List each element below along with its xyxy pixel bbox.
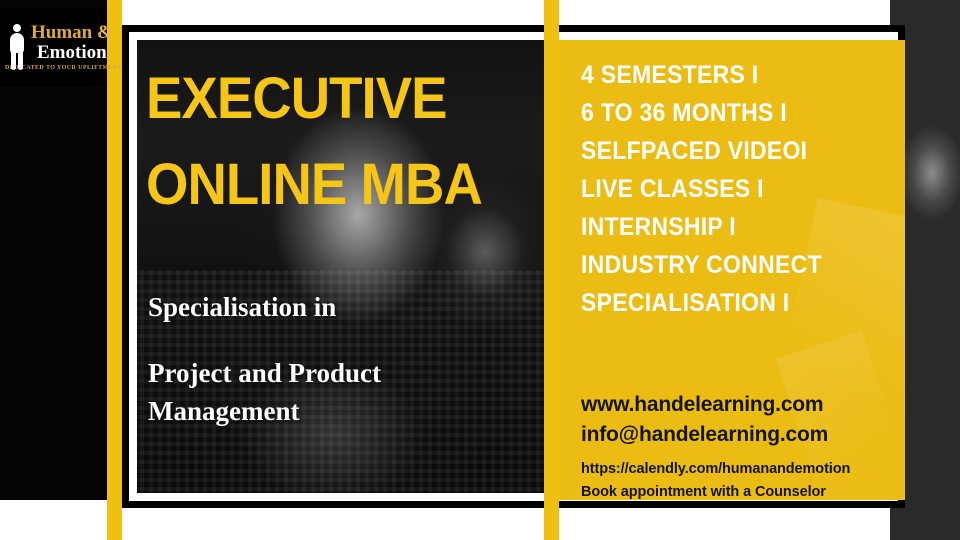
brand-ampersand: & xyxy=(97,22,113,43)
website-link[interactable]: www.handelearning.com xyxy=(581,390,905,420)
list-item: INTERNSHIP I xyxy=(581,208,875,246)
brand-line-1: Human & xyxy=(31,23,122,42)
accent-stripe-middle xyxy=(544,0,559,540)
contact-block: www.handelearning.com info@handelearning… xyxy=(581,390,905,500)
specialisation-gap xyxy=(148,326,548,354)
booking-caption: Book appointment with a Counselor xyxy=(581,481,905,500)
list-item: 4 SEMESTERS I xyxy=(581,56,875,94)
list-item: LIVE CLASSES I xyxy=(581,170,875,208)
brand-logo[interactable]: Human & Emotion DEDICATED TO YOUR UPLIFT… xyxy=(0,8,107,86)
specialisation-value-line-2: Management xyxy=(148,392,548,430)
list-item: SPECIALISATION I xyxy=(581,284,875,322)
person-silhouette-icon xyxy=(7,24,27,70)
feature-list: 4 SEMESTERS I 6 TO 36 MONTHS I SELFPACED… xyxy=(581,56,901,322)
silhouette-leg-right xyxy=(18,51,23,70)
accent-stripe-left xyxy=(107,0,122,540)
features-panel: 4 SEMESTERS I 6 TO 36 MONTHS I SELFPACED… xyxy=(559,40,905,500)
brand-line-2: Emotion xyxy=(37,43,122,62)
contact-spacer xyxy=(581,450,905,458)
brand-wordmark: Human & Emotion DEDICATED TO YOUR UPLIFT… xyxy=(31,23,122,71)
email-link[interactable]: info@handelearning.com xyxy=(581,420,905,450)
specialisation-label: Specialisation in xyxy=(148,292,336,322)
page-title: EXECUTIVE ONLINE MBA xyxy=(146,56,522,228)
specialisation-value-line-1: Project and Product xyxy=(148,358,381,388)
poster-canvas: EXECUTIVE ONLINE MBA Specialisation in P… xyxy=(0,0,960,540)
headline-line-1: EXECUTIVE xyxy=(146,66,447,131)
brand-name-human: Human xyxy=(31,22,92,43)
specialisation-block: Specialisation in Project and Product Ma… xyxy=(148,288,548,430)
list-item: 6 TO 36 MONTHS I xyxy=(581,94,875,132)
silhouette-head xyxy=(13,24,21,32)
list-item: SELFPACED VIDEOI xyxy=(581,132,875,170)
list-item: INDUSTRY CONNECT xyxy=(581,246,875,284)
headline-line-2: ONLINE MBA xyxy=(146,142,522,228)
silhouette-leg-left xyxy=(11,51,16,70)
silhouette-body xyxy=(10,33,24,53)
booking-link[interactable]: https://calendly.com/humanandemotion xyxy=(581,458,905,481)
